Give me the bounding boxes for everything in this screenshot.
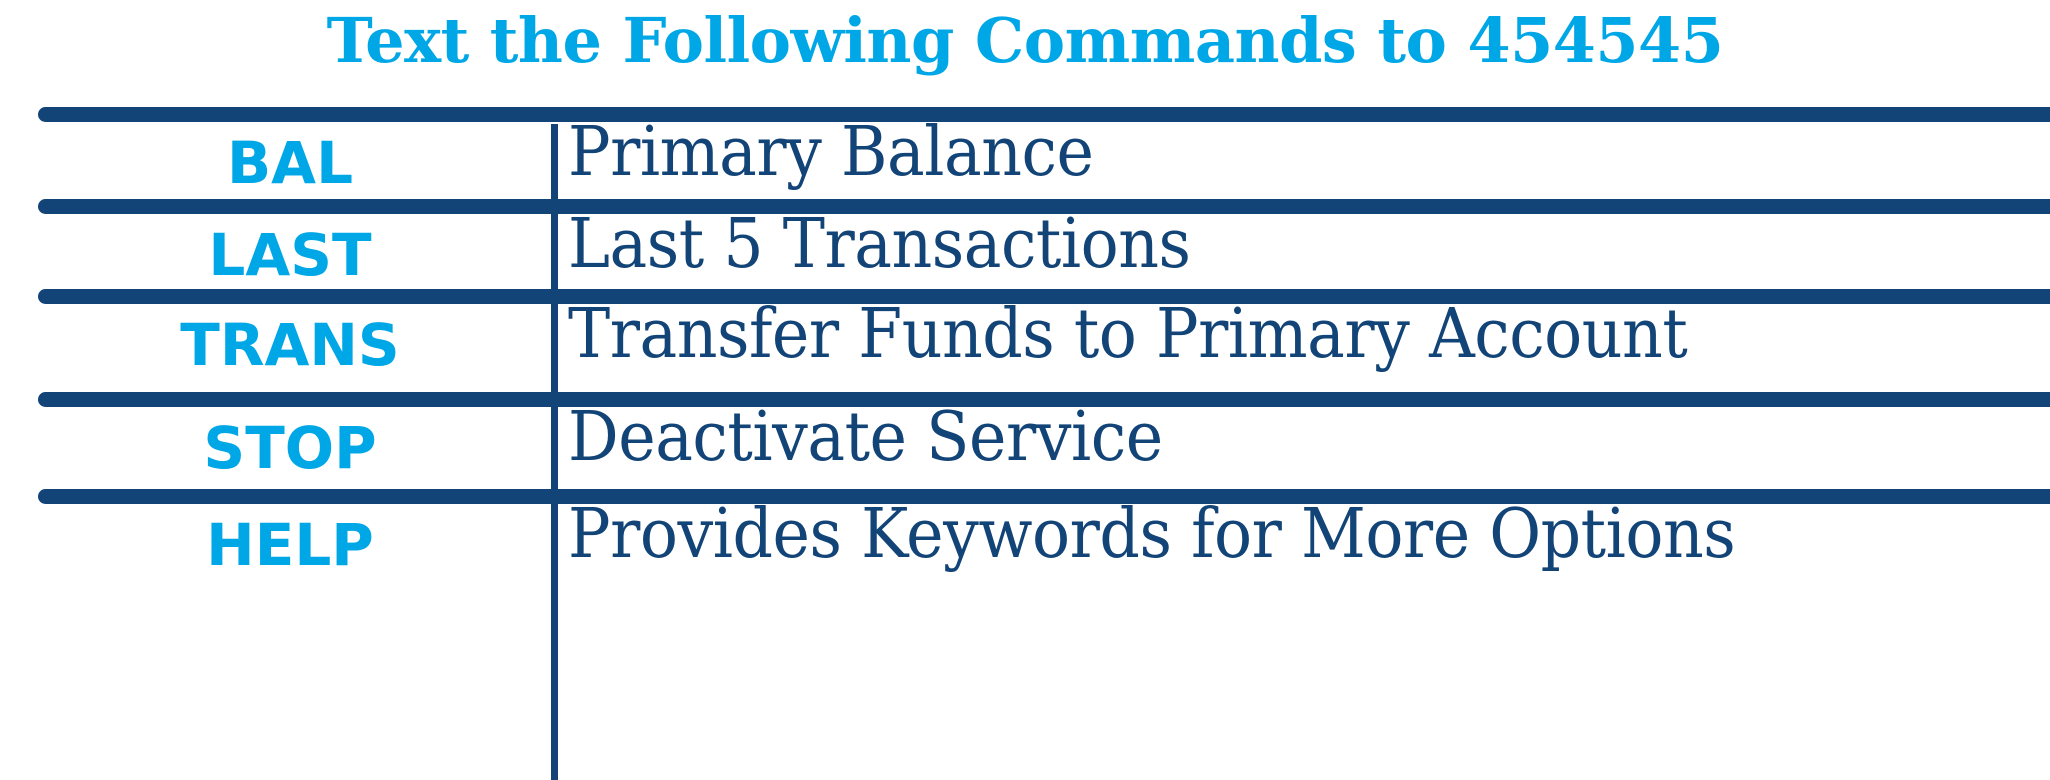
command-keyword: HELP [40, 511, 540, 579]
table-row: TRANS Transfer Funds to Primary Account [0, 304, 2050, 392]
command-keyword: STOP [40, 414, 540, 482]
commands-table: BAL Primary Balance LAST Last 5 Transact… [0, 0, 2050, 780]
table-row: LAST Last 5 Transactions [0, 214, 2050, 289]
command-description: Deactivate Service [568, 398, 1163, 477]
table-row: HELP Provides Keywords for More Options [0, 504, 2050, 594]
table-row: BAL Primary Balance [0, 122, 2050, 199]
command-keyword: BAL [40, 129, 540, 197]
command-keyword: TRANS [40, 311, 540, 379]
table-row: STOP Deactivate Service [0, 407, 2050, 489]
command-keyword: LAST [40, 221, 540, 289]
command-description: Last 5 Transactions [568, 205, 1190, 284]
sms-commands-page: Text the Following Commands to 454545 BA… [0, 0, 2050, 780]
command-description: Provides Keywords for More Options [568, 495, 1735, 574]
command-description: Transfer Funds to Primary Account [568, 295, 1687, 374]
command-description: Primary Balance [568, 113, 1093, 192]
